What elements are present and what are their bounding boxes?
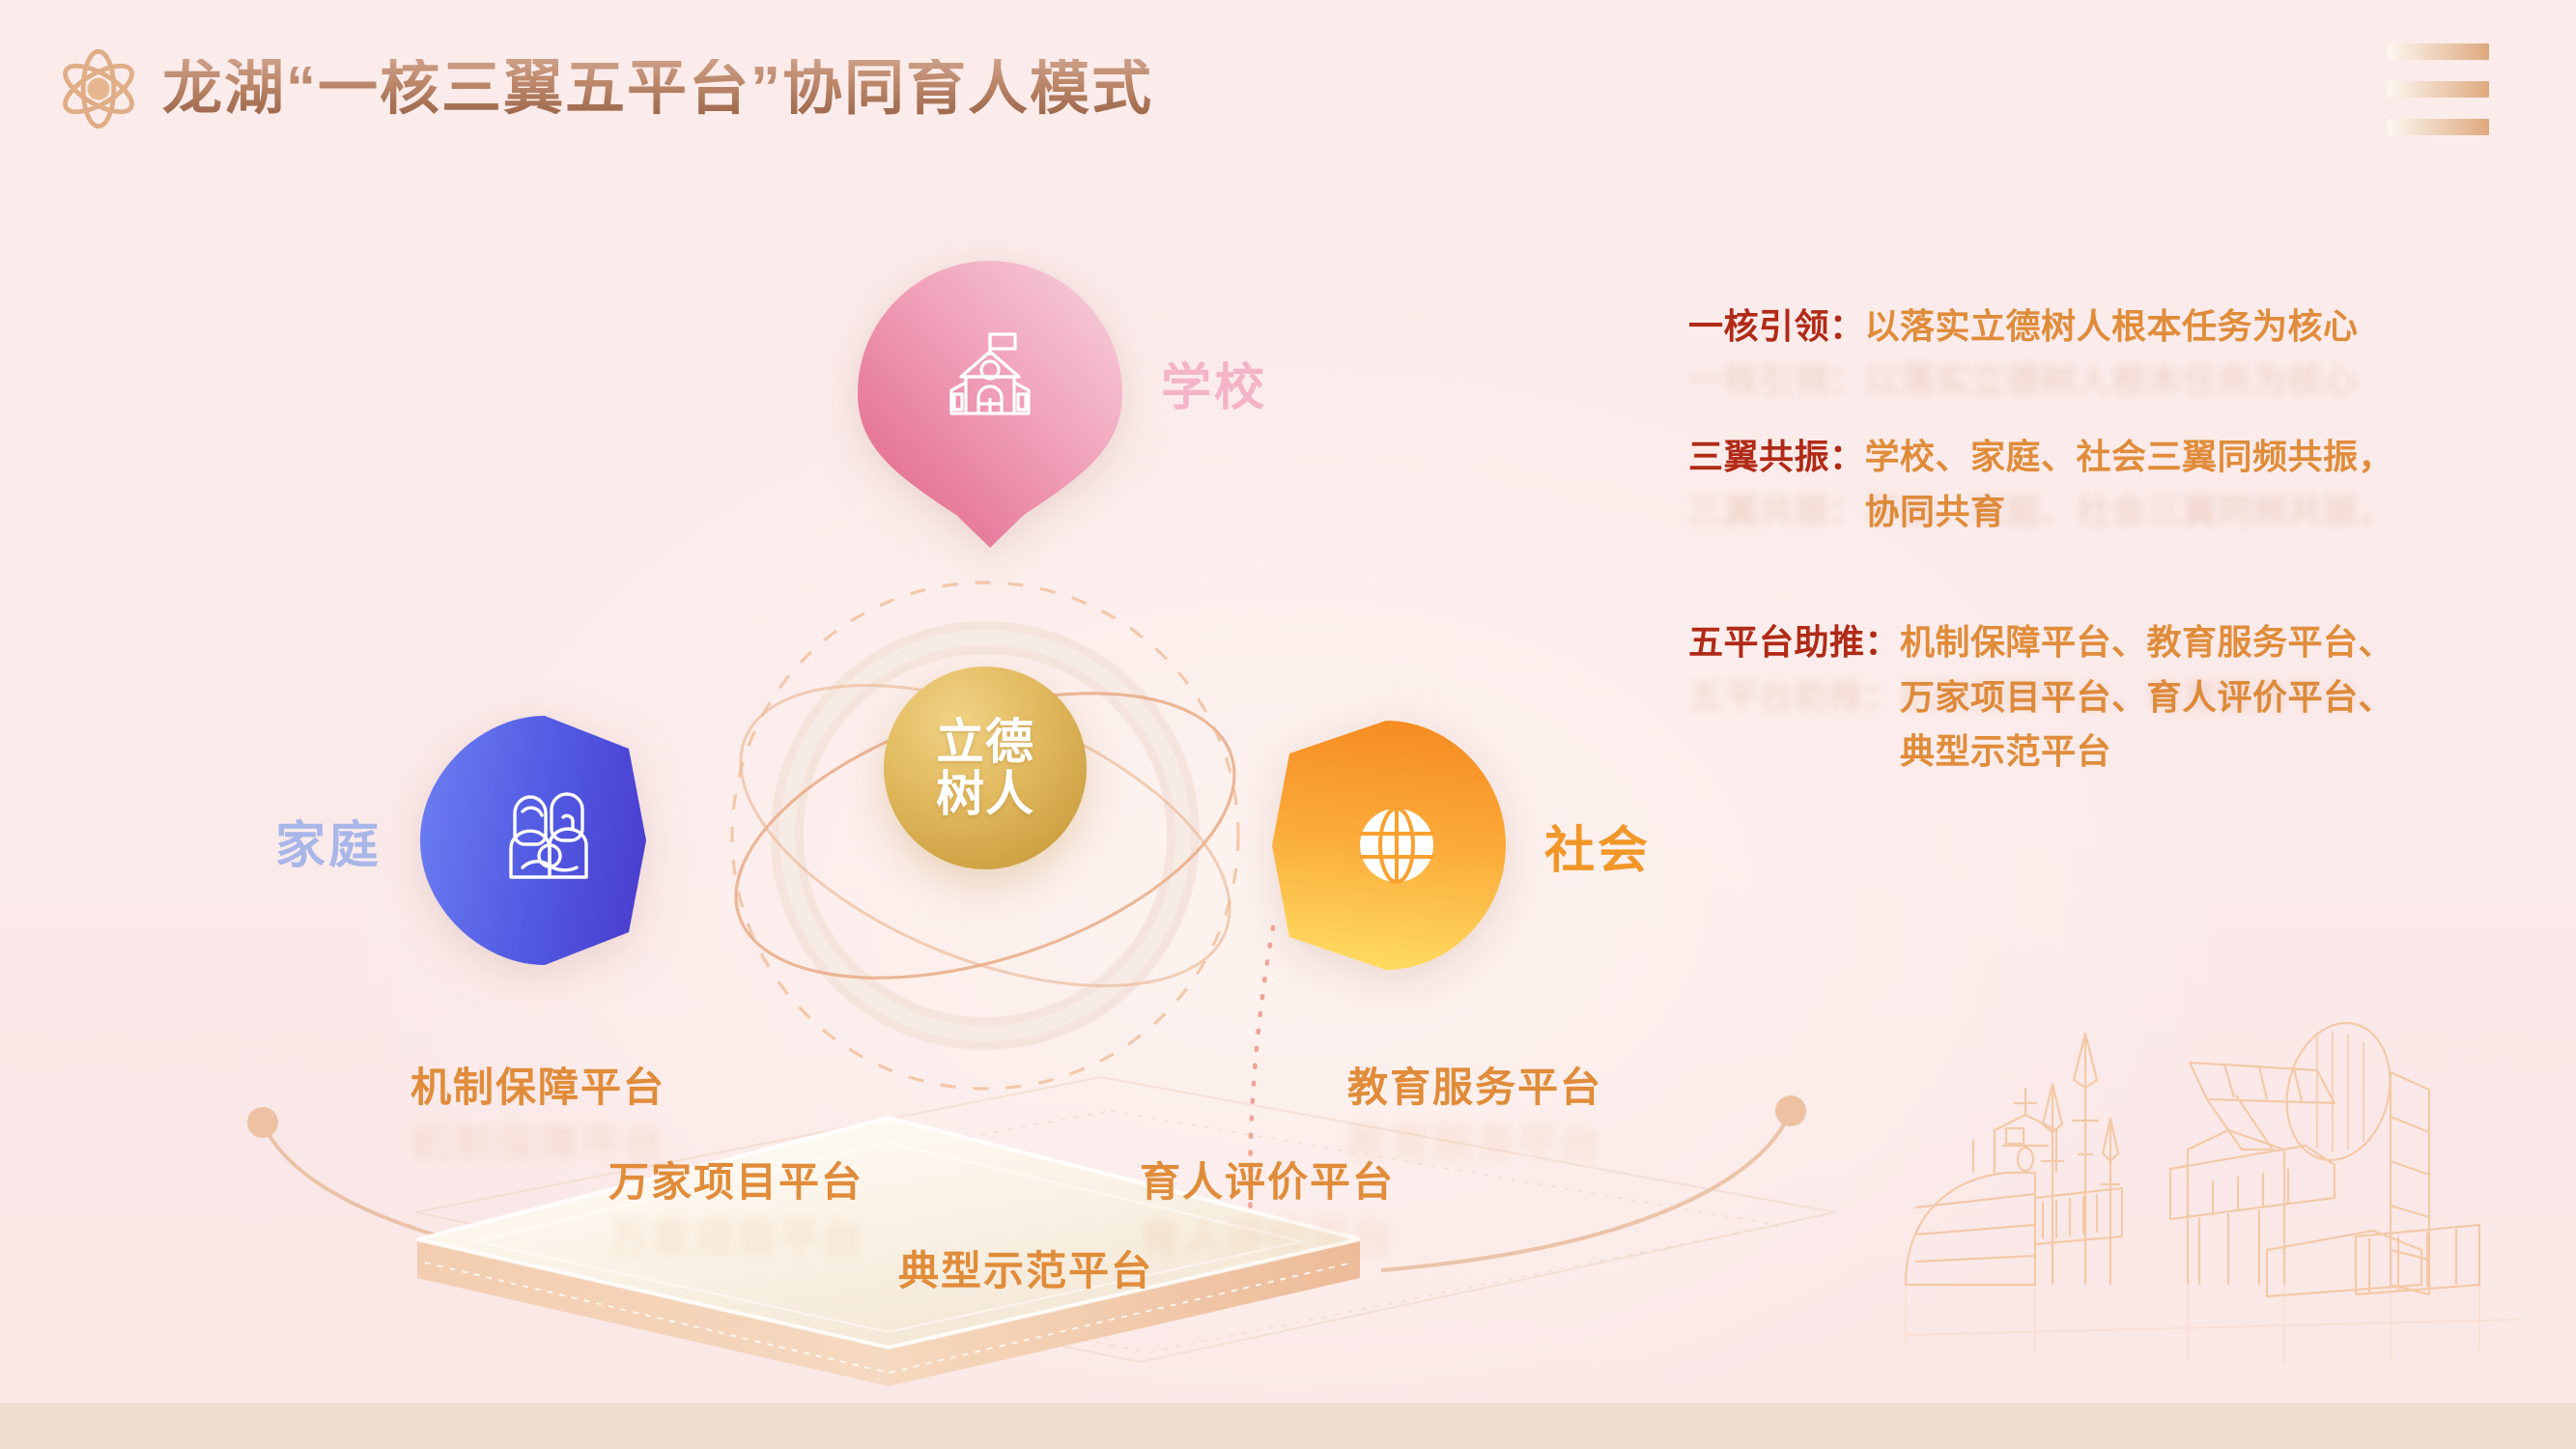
society-pin (1251, 715, 1512, 976)
info-value-line: 万家项目平台、育人评价平台、 (1900, 670, 2393, 725)
info-value-line: 机制保障平台、教育服务平台、 (1900, 615, 2393, 670)
info-row-one-core: 一核引领 ： 以落实立德树人根本任务为核心 一核引领：以落实立德树人根本任务为核… (1688, 299, 2538, 355)
core-sphere-label: 立德 树人 (936, 716, 1034, 820)
menu-bar-3 (2388, 119, 2489, 135)
hamburger-menu-icon[interactable] (2388, 43, 2489, 135)
menu-bar-1 (2388, 43, 2489, 60)
parent-child-icon (409, 710, 679, 971)
page-title: 龙湖“一核三翼五平台”协同育人模式 (162, 59, 1153, 119)
info-ghost-0: 一核引领：以落实立德树人根本任务为核心 (1688, 354, 2359, 409)
node-society[interactable]: 社会 (1251, 715, 1651, 976)
infographic-canvas: 龙湖“一核三翼五平台”协同育人模式 立德 树人 (0, 0, 2576, 1449)
info-key-five-platforms: 五平台助推 (1688, 615, 1865, 670)
info-separator-0: ： (1829, 299, 1865, 355)
platform-label-mechanism[interactable]: 机制保障平台 (410, 1055, 665, 1114)
city-skyline-lineart (1881, 995, 2576, 1410)
info-key-three-wings: 三翼共振 (1688, 430, 1829, 485)
info-row-three-wings: 三翼共振 ： 学校、家庭、社会三翼同频共振， 协同共育 三翼共振：学校、家庭、社… (1688, 430, 2538, 540)
platform-label-ghost-3: 育人评价平台 (1140, 1206, 1395, 1264)
core-line-1: 立德 (936, 716, 1034, 768)
platform-label-ghost-2: 万家项目平台 (609, 1206, 863, 1264)
page-header: 龙湖“一核三翼五平台”协同育人模式 (56, 46, 1153, 131)
platform-label-wanjia-project[interactable]: 万家项目平台 (609, 1150, 863, 1208)
info-value-line: 协同共育 (1865, 485, 2394, 540)
node-school-label: 学校 (1161, 347, 1267, 419)
info-value-line: 学校、家庭、社会三翼同频共振， (1865, 430, 2394, 485)
node-school[interactable]: 学校 (850, 256, 1267, 555)
platform-label-evaluation[interactable]: 育人评价平台 (1140, 1150, 1395, 1208)
info-value-line: 典型示范平台 (1900, 724, 2393, 780)
info-key-one-core: 一核引领 (1688, 299, 1829, 355)
core-line-2: 树人 (936, 768, 1034, 820)
bottom-strip (0, 1403, 2576, 1449)
school-pin (850, 256, 1130, 555)
info-separator-2: ： (1865, 615, 1901, 670)
platform-label-education-service[interactable]: 教育服务平台 (1347, 1055, 1602, 1114)
node-society-label: 社会 (1544, 810, 1651, 882)
platform-label-model-demo[interactable]: 典型示范平台 (898, 1238, 1153, 1297)
info-row-five-platforms: 五平台助推 ： 机制保障平台、教育服务平台、 万家项目平台、育人评价平台、 典型… (1688, 615, 2538, 781)
atom-icon (56, 46, 141, 131)
school-building-icon (850, 223, 1130, 523)
core-sphere: 立德 树人 (884, 667, 1087, 869)
node-family-label: 家庭 (275, 805, 382, 877)
info-value-line: 以落实立德树人根本任务为核心 (1865, 299, 2359, 355)
menu-bar-2 (2388, 81, 2489, 98)
info-panel: 一核引领 ： 以落实立德树人根本任务为核心 一核引领：以落实立德树人根本任务为核… (1688, 299, 2538, 780)
globe-icon (1266, 715, 1527, 976)
family-pin (414, 710, 685, 971)
info-separator-1: ： (1829, 430, 1865, 485)
node-family[interactable]: 家庭 (275, 710, 685, 971)
